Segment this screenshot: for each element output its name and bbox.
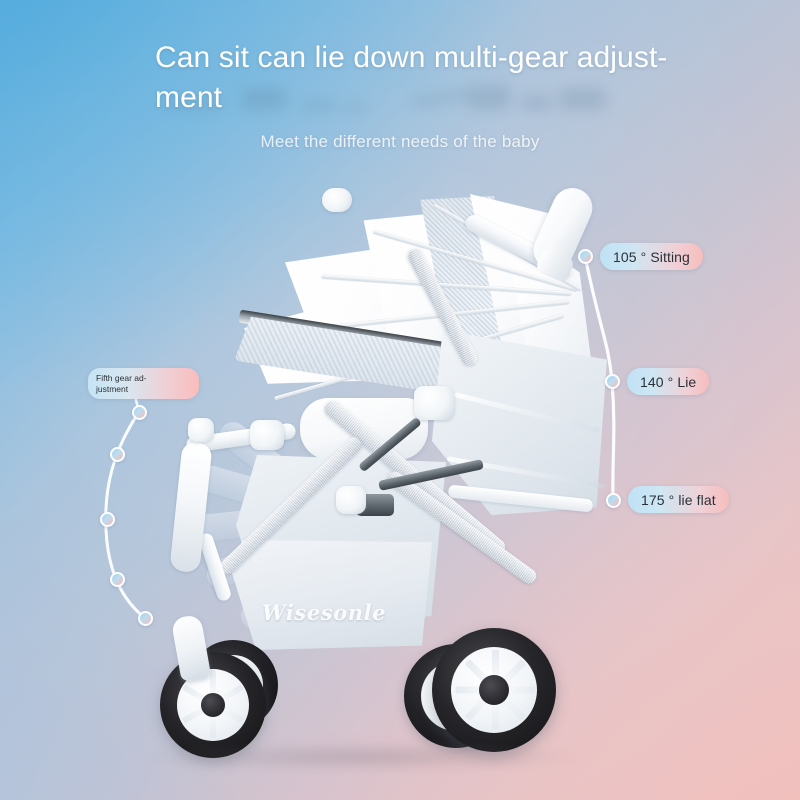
gear-dot-3 [100, 512, 115, 527]
callout-105-label: 105 ° Sitting [613, 249, 690, 265]
recline-dot-175 [606, 493, 621, 508]
callout-105-sitting[interactable]: 105 ° Sitting [600, 243, 703, 270]
callout-fifth-gear-adjustment[interactable]: Fifth gear ad- justment [88, 368, 199, 399]
gear-dot-5 [138, 611, 153, 626]
rear-wheel-near [432, 628, 556, 752]
canopy-pivot-hub [322, 188, 352, 212]
floor-shadow [140, 742, 590, 772]
frame-center-joint [336, 486, 366, 514]
stroller-illustration: Wisesonle [0, 0, 800, 800]
canopy-joint [414, 386, 454, 420]
callout-175-lie-flat[interactable]: 175 ° lie flat [628, 486, 729, 513]
callout-fifth-gear-line2: justment [96, 384, 147, 395]
callout-140-lie[interactable]: 140 ° Lie [627, 368, 709, 395]
recline-dot-140 [605, 374, 620, 389]
gear-dot-4 [110, 572, 125, 587]
callout-175-label: 175 ° lie flat [641, 492, 716, 508]
product-marketing-image: Can sit can lie down multi-gear adjust-m… [0, 0, 800, 800]
storage-basket [232, 540, 432, 650]
callout-140-label: 140 ° Lie [640, 374, 696, 390]
callout-fifth-gear-line1: Fifth gear ad- [96, 373, 147, 384]
handle-fold-joint [250, 420, 284, 450]
brand-logo: Wisesonle [262, 600, 412, 625]
armrest-joint [188, 418, 214, 442]
gear-dot-1 [132, 405, 147, 420]
gear-dot-2 [110, 447, 125, 462]
recline-dot-105 [578, 249, 593, 264]
